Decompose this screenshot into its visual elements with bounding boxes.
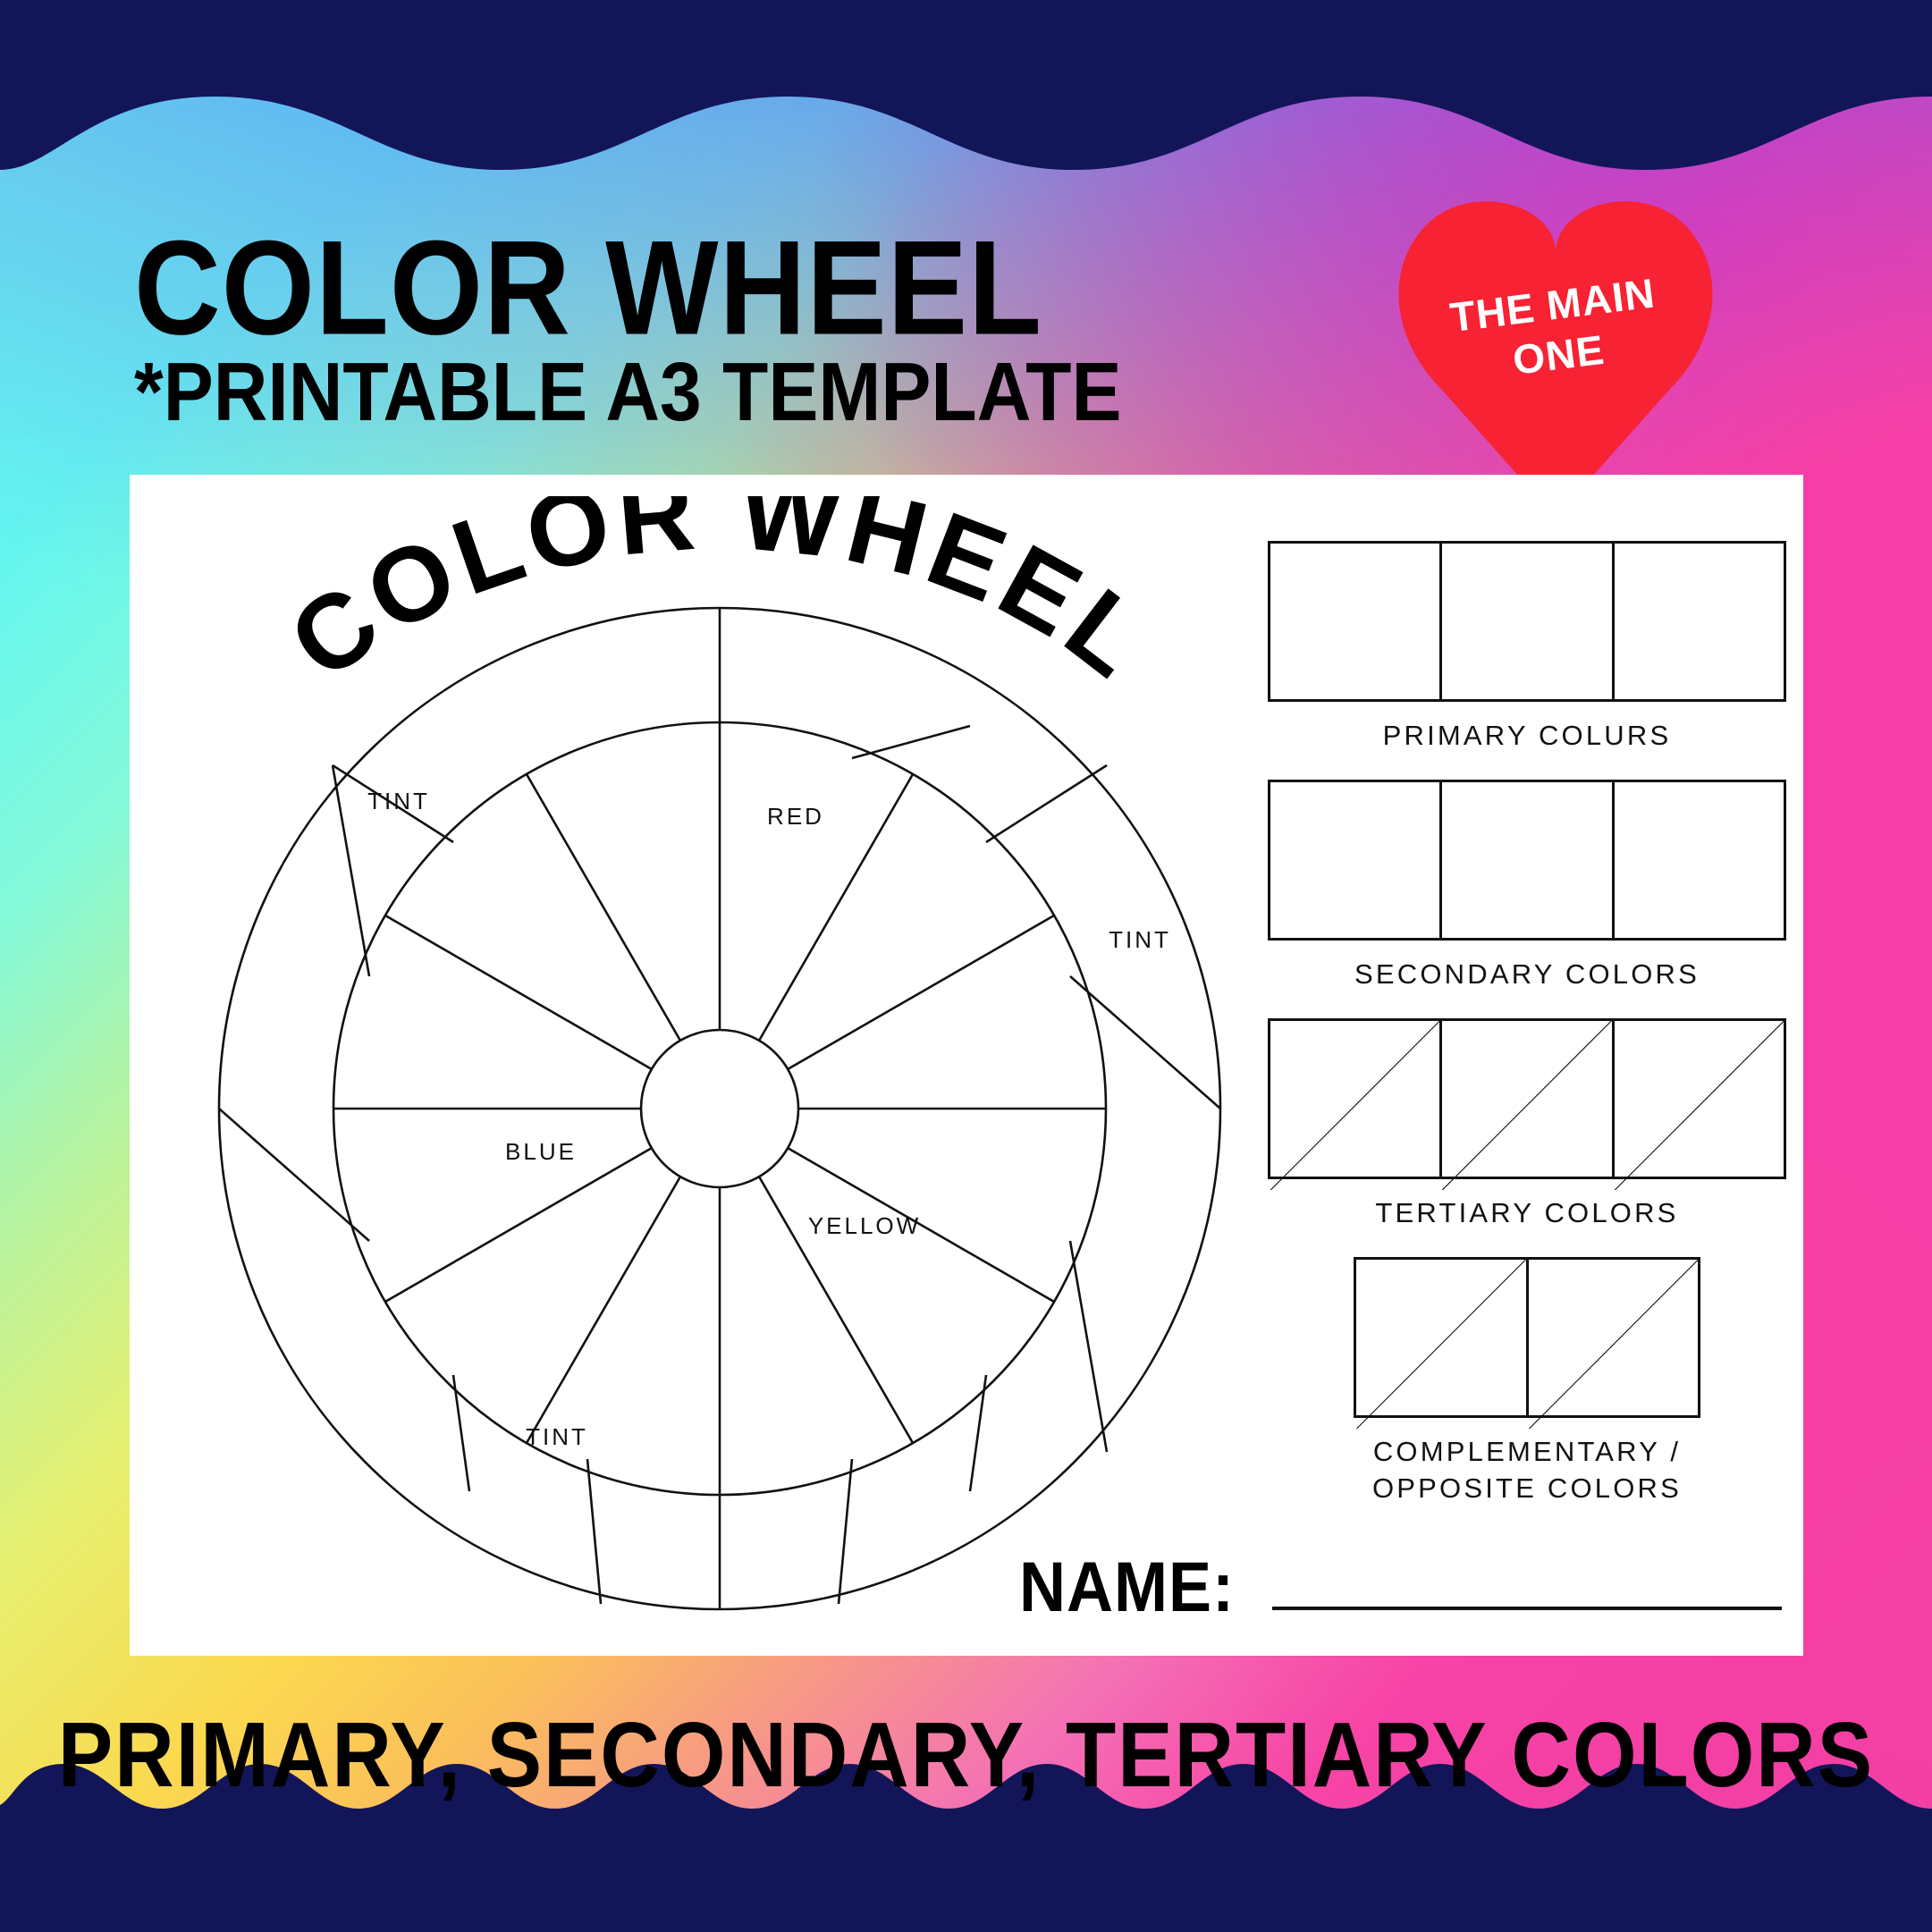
footer-caption: PRIMARY, SECONDARY, TERTIARY COLORS [0, 1703, 1932, 1809]
wheel-inner-spokes [333, 722, 1106, 1495]
swatch-cell[interactable] [1615, 782, 1784, 938]
swatch-row-complementary[interactable] [1354, 1257, 1700, 1418]
wheel-label-tint-bottom: TINT [526, 1423, 588, 1450]
swatch-row-primary[interactable] [1268, 541, 1786, 702]
wheel-label-yellow: YELLOW [808, 1212, 921, 1239]
swatch-cell[interactable] [1270, 782, 1442, 938]
wheel-hub-circle [641, 1030, 798, 1187]
swatch-cell[interactable] [1615, 544, 1784, 699]
swatch-group-complementary: COMPLEMENTARY /OPPOSITE COLORS [1268, 1257, 1786, 1507]
swatch-cell[interactable] [1615, 1021, 1784, 1177]
swatch-cell[interactable] [1442, 544, 1614, 699]
name-label: NAME: [1019, 1554, 1235, 1621]
swatch-cell[interactable] [1356, 1260, 1529, 1415]
wheel-label-tint-left: TINT [367, 788, 430, 814]
name-field[interactable]: NAME: [1019, 1560, 1782, 1621]
swatch-label-tertiary: TERTIARY COLORS [1268, 1195, 1786, 1232]
poster-title: COLOR WHEEL [134, 222, 1042, 356]
color-wheel-diagram: RED TINT YELLOW TINT BLUE TINT [201, 590, 1238, 1627]
swatch-label-secondary: SECONDARY COLORS [1268, 957, 1786, 993]
wheel-segment-labels: RED TINT YELLOW TINT BLUE TINT [367, 788, 1171, 1450]
wheel-label-red: RED [767, 803, 824, 830]
diagonal-divider-icon [1270, 1021, 1439, 1190]
swatch-cell[interactable] [1270, 1021, 1442, 1177]
swatch-label-primary: PRIMARY COLURS [1268, 718, 1786, 755]
swatch-column: PRIMARY COLURS SECONDARY COLORS [1268, 541, 1786, 1516]
wheel-label-blue: BLUE [505, 1138, 577, 1165]
swatch-row-secondary[interactable] [1268, 780, 1786, 941]
swatch-cell[interactable] [1442, 782, 1614, 938]
diagonal-divider-icon [1442, 1021, 1611, 1190]
swatch-label-complementary: COMPLEMENTARY /OPPOSITE COLORS [1268, 1434, 1786, 1507]
name-input-line[interactable] [1272, 1607, 1782, 1610]
swatch-cell[interactable] [1529, 1260, 1699, 1415]
swatch-group-tertiary: TERTIARY COLORS [1268, 1018, 1786, 1232]
swatch-group-primary: PRIMARY COLURS [1268, 541, 1786, 755]
swatch-cell[interactable] [1270, 544, 1442, 699]
diagonal-divider-icon [1615, 1021, 1784, 1190]
diagonal-divider-icon [1356, 1260, 1526, 1430]
swatch-row-tertiary[interactable] [1268, 1018, 1786, 1179]
poster-canvas: COLOR WHEEL *PRINTABLE A3 TEMPLATE THE M… [0, 0, 1932, 1932]
diagonal-divider-icon [1529, 1260, 1699, 1430]
swatch-cell[interactable] [1442, 1021, 1614, 1177]
swatch-group-secondary: SECONDARY COLORS [1268, 780, 1786, 993]
poster-subtitle: *PRINTABLE A3 TEMPLATE [134, 350, 1121, 433]
wheel-label-tint-right: TINT [1109, 926, 1171, 953]
